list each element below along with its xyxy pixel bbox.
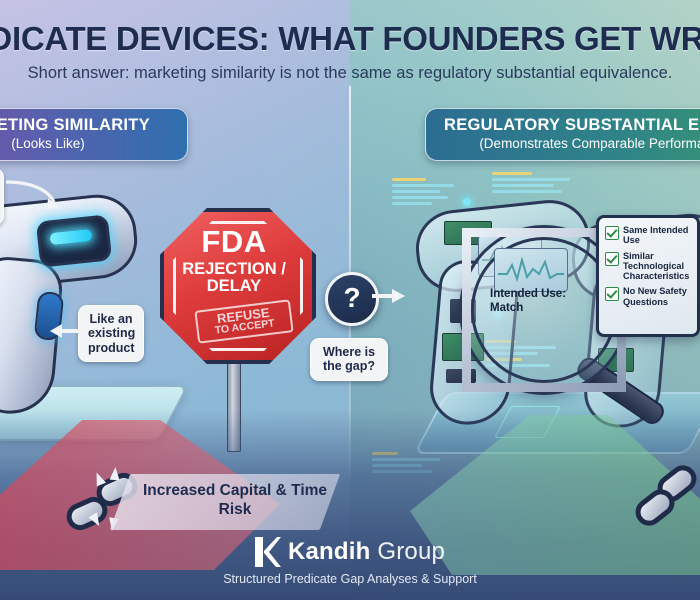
left-panel-subheading: (Looks Like) xyxy=(0,136,169,151)
left-panel-header: MARKETING SIMILARITY (Looks Like) xyxy=(0,108,188,161)
brand-name-light: Group xyxy=(377,538,445,565)
equivalence-checklist-tablet: Same Intended Use Similar Technological … xyxy=(596,215,700,337)
infographic-canvas: PREDICATE DEVICES: WHAT FOUNDERS GET WRO… xyxy=(0,0,700,600)
sign-line-2: REJECTION / DELAY xyxy=(160,261,308,296)
brand-tagline: Structured Predicate Gap Analyses & Supp… xyxy=(0,572,700,586)
right-panel-heading: REGULATORY SUBSTANTIAL EQUIVALENCE xyxy=(444,116,700,135)
page-title: PREDICATE DEVICES: WHAT FOUNDERS GET WRO… xyxy=(0,20,700,58)
data-block-top xyxy=(492,172,580,196)
kandih-k-mark-icon xyxy=(255,537,281,567)
checklist-item: Similar Technological Characteristics xyxy=(605,251,691,282)
brand-name: Kandih Group xyxy=(288,538,445,566)
fda-rejection-sign-text: FDA REJECTION / DELAY xyxy=(160,226,308,296)
callout-where-is-the-gap: Where is the gap? xyxy=(310,338,388,381)
checkbox-checked-icon xyxy=(605,226,619,240)
checkbox-checked-icon xyxy=(605,287,619,301)
checkbox-checked-icon xyxy=(605,252,619,266)
brand-logo: Kandih Group xyxy=(0,537,700,567)
data-block-left xyxy=(392,178,462,208)
checklist-item-label: Same Intended Use xyxy=(623,225,691,246)
checklist-item: Same Intended Use xyxy=(605,225,691,246)
callout-existing-product: Like an existing product xyxy=(78,305,144,362)
page-subtitle: Short answer: marketing similarity is no… xyxy=(0,64,700,83)
brand-name-bold: Kandih xyxy=(288,538,371,565)
right-panel-subheading: (Demonstrates Comparable Performance) xyxy=(444,136,700,151)
checklist-item-label: Similar Technological Characteristics xyxy=(623,251,691,282)
right-arrow-icon xyxy=(372,288,406,304)
left-arrow-icon xyxy=(50,322,80,340)
curved-arrow-icon xyxy=(4,176,66,216)
footer: Kandih Group Structured Predicate Gap An… xyxy=(0,537,700,586)
right-panel-header: REGULATORY SUBSTANTIAL EQUIVALENCE (Demo… xyxy=(425,108,700,161)
sign-line-1: FDA xyxy=(160,226,308,257)
circuit-chip-icon xyxy=(446,369,476,383)
checklist-item: No New Safety Questions xyxy=(605,286,691,307)
risk-label: Increased Capital & Time Risk xyxy=(140,482,330,519)
magnified-waveform-display xyxy=(494,248,568,292)
magnifier-label: Intended Use: Match xyxy=(490,288,582,316)
left-panel-heading: MARKETING SIMILARITY xyxy=(0,116,169,135)
question-mark-node: ? xyxy=(325,272,379,326)
checklist-item-label: No New Safety Questions xyxy=(623,286,691,307)
